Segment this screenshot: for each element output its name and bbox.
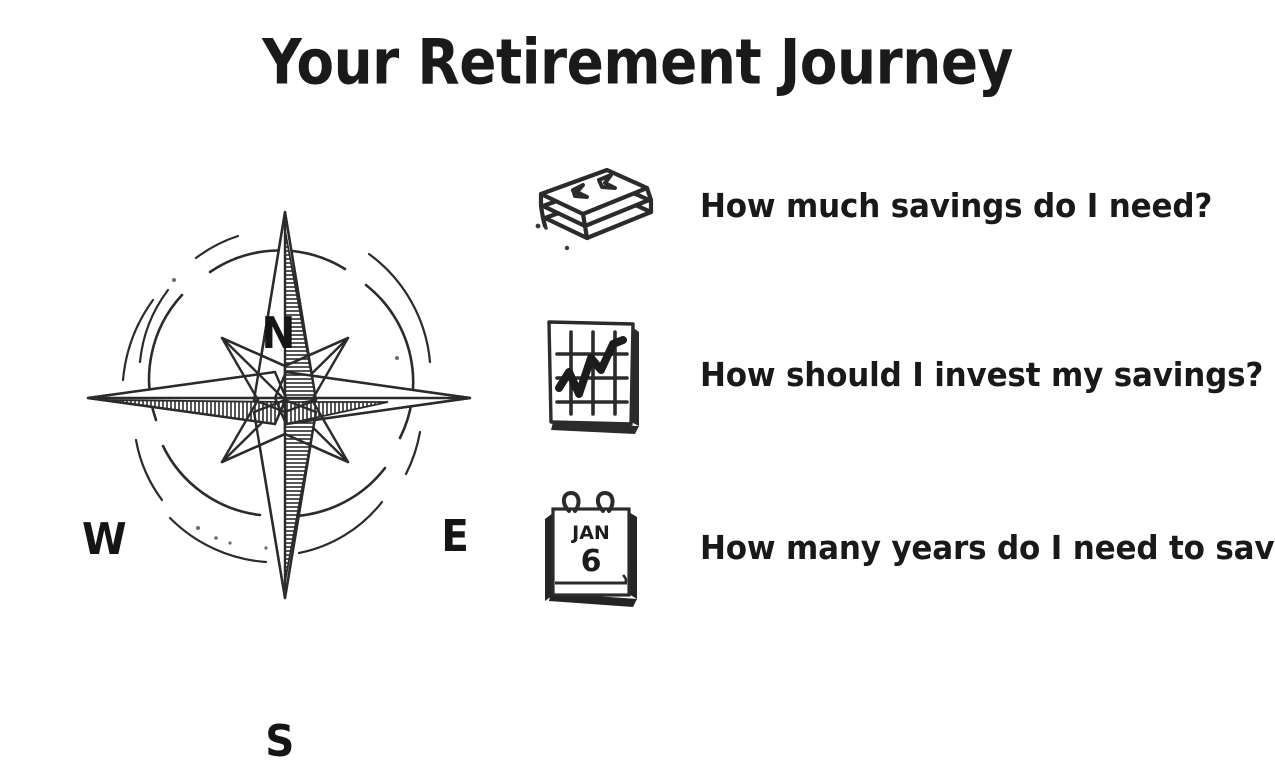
- compass-rose: N S E W: [70, 150, 490, 630]
- question-text: How should I invest my savings?: [700, 355, 1263, 395]
- compass-label-east: E: [441, 515, 469, 559]
- question-text: How much savings do I need?: [700, 186, 1212, 226]
- compass-label-south: S: [265, 720, 294, 764]
- calendar-icon: JAN 6: [520, 488, 670, 608]
- question-row: How much savings do I need?: [520, 146, 1260, 266]
- line-chart-paper-drawing: [535, 310, 655, 440]
- calendar-month: JAN: [570, 522, 610, 544]
- slide-canvas: Your Retirement Journey: [0, 0, 1275, 719]
- calendar-day: 6: [581, 544, 602, 579]
- question-row: JAN 6 How many years do I need to save?: [520, 488, 1260, 608]
- cash-stack-drawing: [525, 156, 665, 256]
- line-chart-paper-icon: [520, 315, 670, 435]
- cash-stack-icon: [520, 146, 670, 266]
- question-row: How should I invest my savings?: [520, 315, 1260, 435]
- compass-label-north: N: [261, 312, 295, 356]
- calendar-drawing: JAN 6: [535, 483, 655, 613]
- compass-rose-drawing: [70, 150, 490, 630]
- page-title: Your Retirement Journey: [45, 22, 1231, 103]
- compass-label-west: W: [82, 518, 127, 562]
- question-text: How many years do I need to save?: [700, 528, 1275, 568]
